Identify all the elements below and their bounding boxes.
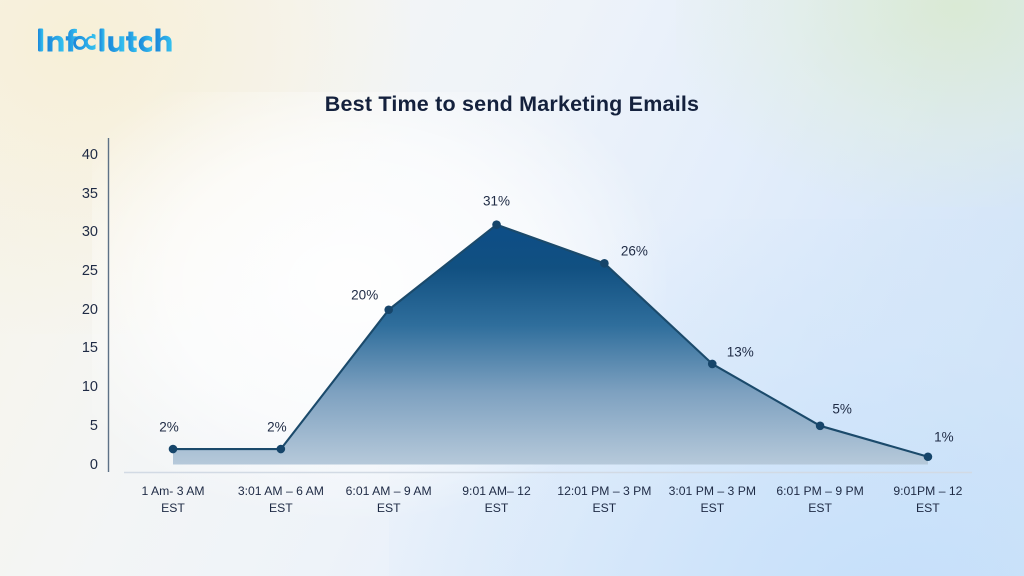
data-point-value-label: 2% <box>267 420 287 435</box>
y-axis-tick-label: 20 <box>58 302 98 318</box>
data-point-value-label: 20% <box>351 287 378 302</box>
x-axis-tick-line: 9:01PM – 12 <box>853 483 1003 500</box>
data-point-marker[interactable] <box>277 445 286 454</box>
data-point-marker[interactable] <box>600 259 609 268</box>
chart-infographic: Best Time to send Marketing Emails <box>0 0 1024 576</box>
data-point-marker[interactable] <box>708 360 717 369</box>
y-axis-tick-label: 15 <box>58 340 98 356</box>
data-point-marker[interactable] <box>816 422 825 431</box>
data-point-value-label: 5% <box>832 401 852 416</box>
y-axis-tick-label: 25 <box>58 263 98 279</box>
data-point-value-label: 13% <box>727 344 754 359</box>
y-axis-tick-label: 5 <box>58 418 98 434</box>
x-axis-tick-label: 9:01PM – 12EST <box>853 483 1003 518</box>
y-axis-tick-label: 10 <box>58 379 98 395</box>
data-point-marker[interactable] <box>492 220 501 229</box>
data-point-marker[interactable] <box>384 305 393 314</box>
x-axis-tick-line: EST <box>853 500 1003 517</box>
data-point-marker[interactable] <box>924 452 933 461</box>
data-point-value-label: 1% <box>934 429 954 444</box>
data-point-value-label: 26% <box>621 244 648 259</box>
chart-plot-area: 0510152025303540 1 Am- 3 AMEST3:01 AM – … <box>0 0 1024 576</box>
data-point-value-label: 31% <box>483 193 510 208</box>
data-point-value-label: 2% <box>159 420 179 435</box>
y-axis-tick-label: 40 <box>58 147 98 163</box>
data-point-marker[interactable] <box>169 445 178 454</box>
y-axis-tick-label: 35 <box>58 186 98 202</box>
y-axis-tick-label: 30 <box>58 224 98 240</box>
y-axis-tick-label: 0 <box>58 457 98 473</box>
